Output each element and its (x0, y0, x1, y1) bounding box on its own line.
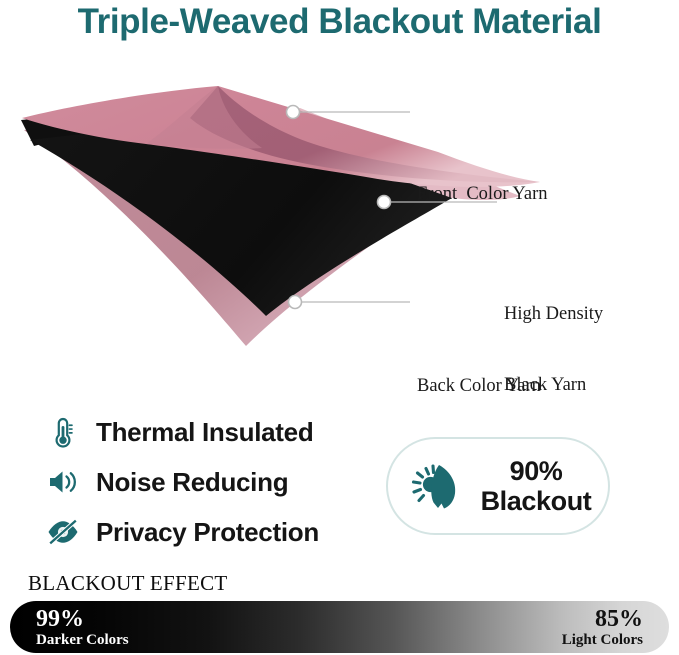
feature-privacy-protection: Privacy Protection (46, 510, 366, 554)
label-line-1: High Density (504, 303, 603, 327)
blackout-effect-gradient-bar: 99% Darker Colors 85% Light Colors (10, 601, 669, 653)
page-title: Triple-Weaved Blackout Material (0, 2, 679, 42)
blackout-caption: Blackout (481, 486, 592, 516)
thermometer-icon (46, 415, 80, 449)
sun-behind-curtain-icon (404, 453, 470, 519)
label-front-color-yarn: Front Color Yarn (417, 183, 548, 207)
blackout-effect-heading: BLACKOUT EFFECT (28, 571, 228, 596)
feature-list: Thermal Insulated Noise Reducing Privacy… (46, 410, 366, 560)
effect-light-caption: Light Colors (562, 632, 643, 649)
speaker-sound-icon (46, 465, 80, 499)
fabric-diagram: Front Color Yarn High Density Black Yarn… (0, 78, 679, 358)
effect-darker-percent: 99% (36, 607, 129, 632)
leader-line-back (289, 296, 411, 309)
label-high-density-black-yarn: High Density Black Yarn (504, 256, 603, 445)
feature-thermal-insulated: Thermal Insulated (46, 410, 366, 454)
blackout-percent: 90% (510, 456, 563, 486)
effect-darker-colors: 99% Darker Colors (36, 607, 129, 649)
label-back-color-yarn: Back Color Yarn (417, 375, 541, 399)
blackout-badge-text: 90% Blackout (470, 456, 608, 516)
effect-light-colors: 85% Light Colors (562, 607, 643, 649)
feature-label-privacy-protection: Privacy Protection (96, 517, 319, 548)
eye-slash-icon (46, 515, 80, 549)
feature-label-thermal-insulated: Thermal Insulated (96, 417, 313, 448)
effect-light-percent: 85% (562, 607, 643, 632)
feature-noise-reducing: Noise Reducing (46, 460, 366, 504)
effect-darker-caption: Darker Colors (36, 632, 129, 649)
blackout-percentage-badge: 90% Blackout (386, 437, 610, 535)
feature-label-noise-reducing: Noise Reducing (96, 467, 288, 498)
